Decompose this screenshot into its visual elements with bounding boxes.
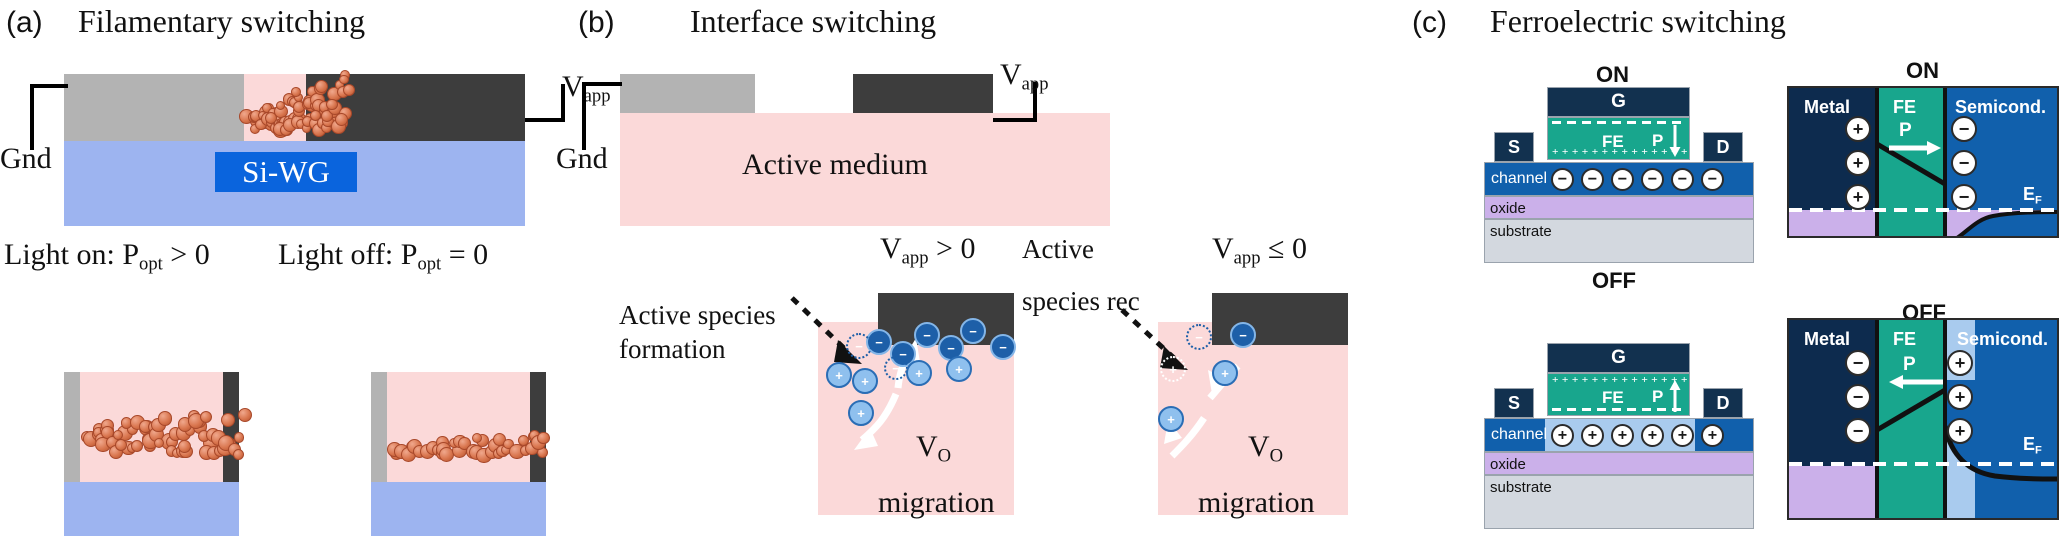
c-device-on-channel: channel −−−−−− <box>1484 162 1754 196</box>
charge-negative: − <box>1951 116 1977 142</box>
b-left-vo-sub: O <box>938 446 951 467</box>
b-left-bias-v: V <box>880 232 902 265</box>
c-device-on-p-label: P <box>1652 131 1663 151</box>
b-left-bias-sub: app <box>902 248 929 269</box>
ion-vacancy: + <box>1160 356 1186 382</box>
c-device-on-substrate-label: substrate <box>1490 223 1552 240</box>
charge-negative: − <box>1951 150 1977 176</box>
ion-positive: + <box>826 362 852 388</box>
c-band-off-fe-slope <box>1875 320 1947 520</box>
c-device-on-gate-label: G <box>1611 91 1626 113</box>
b-right-vo-caption: migration <box>1198 486 1315 520</box>
filament-particle <box>339 75 349 85</box>
c-band-on: Metal FE Semicond. P EF +++ −−− <box>1787 86 2059 238</box>
c-band-on-metal-lower <box>1789 210 1877 238</box>
c-band-off-metal-charges: −−− <box>1845 350 1873 444</box>
charge-negative: − <box>1611 168 1634 191</box>
filament-particle <box>238 408 252 422</box>
b-left-annot-line2: formation <box>619 334 725 365</box>
c-band-off-fe-label: FE <box>1893 329 1916 350</box>
ion-positive: + <box>852 368 878 394</box>
a-state-on-caption: Light on: Popt > 0 <box>4 238 210 276</box>
c-band-on-p-arrow-right-icon <box>1887 140 1943 156</box>
ion-vacancy: − <box>846 333 872 359</box>
ion-positive: + <box>1158 406 1184 432</box>
c-device-off-oxide-label: oxide <box>1490 456 1526 473</box>
b-right-vo-sub: O <box>1270 446 1283 467</box>
charge-positive: + <box>1947 350 1973 376</box>
c-band-off-fermi-line <box>1789 462 2059 466</box>
filament-particle <box>131 440 143 452</box>
a-vapp-bracket <box>525 84 565 122</box>
ion-positive: + <box>946 356 972 382</box>
c-device-on-substrate: substrate <box>1484 219 1754 263</box>
a-state-on-sub: opt <box>139 254 163 275</box>
charge-positive: + <box>1845 116 1871 142</box>
filament-particle <box>158 411 173 426</box>
c-device-off-state: OFF <box>1592 268 1636 294</box>
c-device-off-source: S <box>1494 388 1534 418</box>
c-device-on-drain: D <box>1703 132 1743 162</box>
c-band-off-p-arrow-left-icon <box>1885 374 1945 390</box>
ion-positive: + <box>1212 360 1238 386</box>
charge-negative: − <box>1951 184 1977 210</box>
c-device-off-p-label: P <box>1652 387 1663 407</box>
c-device-on-fe-top-dashes <box>1552 121 1687 124</box>
b-vapp-label: Vapp <box>1000 58 1049 96</box>
b-left-annot-line1: Active species <box>619 300 776 331</box>
c-device-off-substrate-label: substrate <box>1490 479 1552 496</box>
c-device-off-substrate: substrate <box>1484 475 1754 529</box>
panel-b-title: Interface switching <box>690 3 936 40</box>
b-gnd-bracket <box>580 82 622 150</box>
b-right-annot-line1: Active <box>1022 234 1094 265</box>
a-sub-off-waveguide <box>371 482 546 536</box>
filament-particle <box>537 432 550 445</box>
filament-particle <box>234 432 245 443</box>
charge-positive: + <box>1845 184 1871 210</box>
c-device-on-oxide-label: oxide <box>1490 200 1526 217</box>
panel-a-title: Filamentary switching <box>78 3 365 40</box>
b-left-vo-label: VO <box>916 430 951 468</box>
a-waveguide-label: Si-WG <box>242 154 330 190</box>
filament-particle <box>200 411 212 423</box>
charge-positive: + <box>1947 384 1973 410</box>
b-left-bias-rel: > 0 <box>936 232 975 265</box>
c-band-off-metal-lower <box>1789 466 1877 520</box>
charge-positive: + <box>1581 424 1604 447</box>
filament-particle <box>343 84 356 97</box>
c-band-on-left-interface <box>1875 88 1879 238</box>
c-device-on-fe-label: FE <box>1602 132 1624 152</box>
b-right-bias-v: V <box>1212 232 1234 265</box>
a-sub-on-left-electrode <box>64 372 80 482</box>
a-sub-on-waveguide <box>64 482 239 536</box>
panel-a-letter: (a) <box>6 6 43 40</box>
ion-vacancy: − <box>1186 324 1212 350</box>
c-band-off-fermi-label: EF <box>2023 434 2042 456</box>
c-band-on-metal-charges: +++ <box>1845 116 1873 204</box>
ion-negative: − <box>990 334 1016 360</box>
c-band-off-p-label: P <box>1903 354 1916 376</box>
c-band-on-semi-charges: −−− <box>1951 116 1979 204</box>
c-band-off-left-interface <box>1875 320 1879 520</box>
panel-c-letter: (c) <box>1412 6 1447 40</box>
charge-positive: + <box>1611 424 1634 447</box>
c-device-on-oxide: oxide <box>1484 196 1754 219</box>
ion-negative: − <box>914 322 940 348</box>
c-device-off-fe-bot-dashes <box>1552 408 1687 411</box>
b-gnd-label: Gnd <box>556 142 608 176</box>
filament-particle <box>233 449 244 460</box>
c-device-on-state: ON <box>1596 62 1629 88</box>
c-device-on-channel-label: channel <box>1491 170 1547 188</box>
c-device-off-source-label: S <box>1508 393 1520 414</box>
c-device-off-channel-charges: ++++++ <box>1551 424 1731 448</box>
charge-negative: − <box>1845 418 1871 444</box>
panel-c-title: Ferroelectric switching <box>1490 3 1786 40</box>
c-band-on-semi-label: Semicond. <box>1955 97 2046 118</box>
c-band-off-metal-label: Metal <box>1804 329 1850 350</box>
b-left-vo-caption: migration <box>878 486 995 520</box>
charge-positive: + <box>1641 424 1664 447</box>
a-gnd-label: Gnd <box>0 142 52 176</box>
c-device-on-fe: ++++++++++++++++ FE P <box>1547 117 1690 160</box>
b-left-electrode <box>620 74 755 113</box>
c-device-on-source: S <box>1494 132 1534 162</box>
c-device-on-channel-charges: −−−−−− <box>1551 168 1731 192</box>
c-device-off-channel: channel ++++++ <box>1484 418 1754 452</box>
c-device-off-fe: ++++++++++++++++ FE P <box>1547 373 1690 416</box>
charge-negative: − <box>1671 168 1694 191</box>
c-device-on-source-label: S <box>1508 137 1520 158</box>
a-state-on-rel: > 0 <box>170 238 209 271</box>
figure-root: (a) Filamentary switching Si-WG Gnd Vapp… <box>0 0 2064 541</box>
b-left-bias-label: Vapp > 0 <box>880 232 975 270</box>
filament-particle <box>154 438 164 448</box>
ion-vacancy: − <box>884 356 908 380</box>
b-left-vo-v: V <box>916 430 938 463</box>
c-band-on-right-interface <box>1943 88 1947 238</box>
c-device-on-p-arrow-down-icon <box>1668 123 1682 159</box>
charge-positive: + <box>1551 424 1574 447</box>
a-state-off-prefix: Light off: P <box>278 238 417 271</box>
a-state-off-caption: Light off: Popt = 0 <box>278 238 488 276</box>
charge-negative: − <box>1581 168 1604 191</box>
charge-positive: + <box>1701 424 1724 447</box>
c-band-on-state: ON <box>1906 58 1939 84</box>
charge-negative: − <box>1845 350 1871 376</box>
b-right-vo-label: VO <box>1248 430 1283 468</box>
a-gnd-bracket <box>30 84 70 150</box>
charge-negative: − <box>1641 168 1664 191</box>
a-gnd-text: Gnd <box>0 142 52 175</box>
c-band-on-fermi-line <box>1789 208 2059 212</box>
a-left-electrode <box>64 74 244 141</box>
b-right-bias-sub: app <box>1234 248 1261 269</box>
c-device-off-oxide: oxide <box>1484 452 1754 475</box>
c-device-off-channel-label: channel <box>1491 426 1547 444</box>
c-band-on-fermi-label: EF <box>2023 184 2042 206</box>
c-device-off-fe-label: FE <box>1602 388 1624 408</box>
a-waveguide-core: Si-WG <box>215 152 357 192</box>
b-right-electrode <box>853 74 993 113</box>
b-vapp-sub: app <box>1022 74 1049 95</box>
charge-negative: − <box>1701 168 1724 191</box>
filament-particle <box>291 87 301 97</box>
a-state-on-prefix: Light on: P <box>4 238 139 271</box>
a-state-off-sub: opt <box>417 254 441 275</box>
c-device-off-drain-label: D <box>1717 393 1730 414</box>
charge-positive: + <box>1671 424 1694 447</box>
b-right-bias-label: Vapp ≤ 0 <box>1212 232 1307 270</box>
b-right-bias-rel: ≤ 0 <box>1268 232 1307 265</box>
c-band-on-metal-label: Metal <box>1804 97 1850 118</box>
c-band-off: Metal FE Semicond. P EF −−− +++ <box>1787 318 2059 520</box>
filament-particle <box>221 413 235 427</box>
a-state-off-rel: = 0 <box>449 238 488 271</box>
c-device-off-p-arrow-up-icon <box>1668 380 1682 414</box>
c-device-on-drain-label: D <box>1717 137 1730 158</box>
panel-b-letter: (b) <box>578 6 615 40</box>
charge-negative: − <box>1845 384 1871 410</box>
b-medium-label: Active medium <box>742 148 928 182</box>
charge-positive: + <box>1947 418 1973 444</box>
charge-positive: + <box>1845 150 1871 176</box>
c-device-off-drain: D <box>1703 388 1743 418</box>
c-band-off-semi-charges: +++ <box>1947 350 1975 444</box>
b-vapp-v: V <box>1000 58 1022 91</box>
ion-negative: − <box>1230 322 1256 348</box>
a-sub-on-right-electrode <box>223 372 239 488</box>
c-device-off-gate: G <box>1547 343 1690 373</box>
charge-negative: − <box>1551 168 1574 191</box>
c-device-on-gate: G <box>1547 87 1690 117</box>
c-device-off-fe-top-plus: ++++++++++++++++ <box>1552 377 1687 384</box>
ion-positive: + <box>848 400 874 426</box>
c-band-off-semi-label: Semicond. <box>1957 329 2048 350</box>
filament-particle <box>335 113 348 126</box>
c-band-on-p-label: P <box>1899 120 1912 142</box>
b-right-vo-v: V <box>1248 430 1270 463</box>
ion-negative: − <box>960 318 986 344</box>
c-device-off-gate-label: G <box>1611 347 1626 369</box>
ion-positive: + <box>906 360 932 386</box>
a-sub-off-medium <box>371 372 546 482</box>
c-band-on-fe-label: FE <box>1893 97 1916 118</box>
a-sub-off-left-electrode <box>371 372 387 482</box>
